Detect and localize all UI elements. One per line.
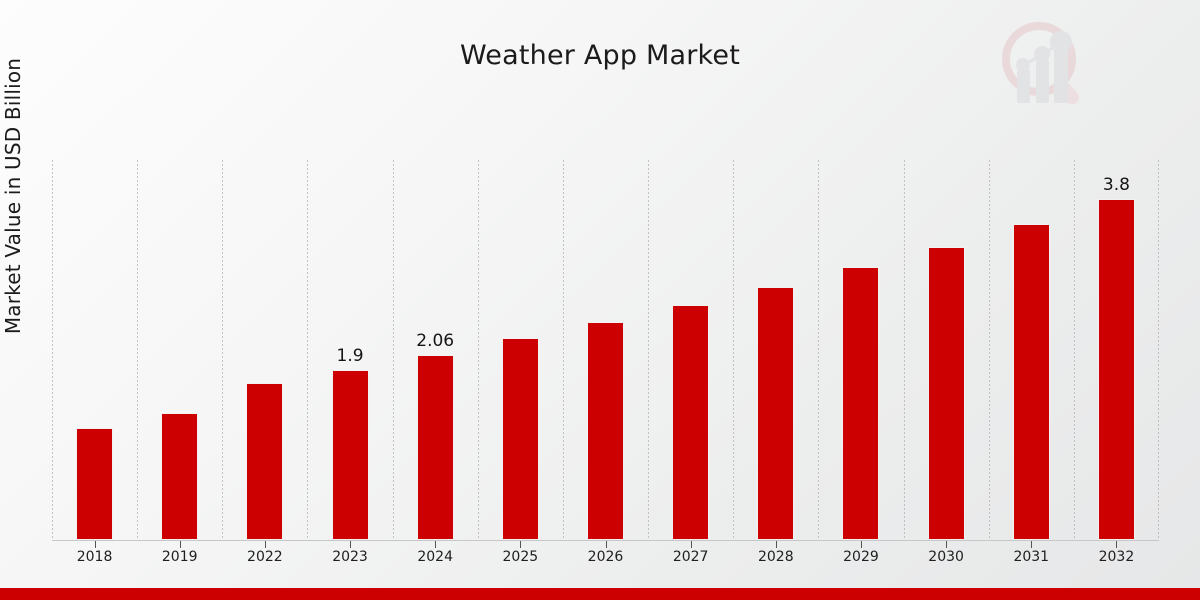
bar-rect[interactable] — [757, 287, 794, 540]
bar-value-label: 3.8 — [1103, 175, 1130, 195]
bar-rect[interactable] — [672, 305, 709, 540]
bar-rect[interactable] — [161, 413, 198, 540]
bar-value-label: 1.9 — [337, 346, 364, 366]
x-axis-label-2018: 2018 — [55, 549, 135, 565]
bar-2027[interactable] — [672, 305, 709, 540]
tick-mark — [946, 541, 947, 548]
tick-mark — [776, 541, 777, 548]
bar-rect[interactable] — [76, 428, 113, 540]
bar-2025[interactable] — [502, 338, 539, 540]
tick-mark — [1116, 541, 1117, 548]
bar-2018[interactable] — [76, 428, 113, 540]
x-axis-label-2023: 2023 — [310, 549, 390, 565]
bar-rect[interactable] — [417, 355, 454, 540]
bar-2023[interactable]: 1.9 — [332, 370, 369, 540]
bar-2022[interactable] — [246, 383, 283, 540]
x-axis-label-2030: 2030 — [906, 549, 986, 565]
x-axis-label-2025: 2025 — [480, 549, 560, 565]
x-axis-label-2019: 2019 — [140, 549, 220, 565]
x-axis-label-2031: 2031 — [991, 549, 1071, 565]
tick-mark — [180, 541, 181, 548]
x-axis-label-2032: 2032 — [1076, 549, 1156, 565]
bar-rect[interactable] — [246, 383, 283, 540]
tick-mark — [861, 541, 862, 548]
y-axis-label: Market Value in USD Billion — [1, 0, 37, 411]
tick-mark — [350, 541, 351, 548]
bar-rect[interactable] — [928, 247, 965, 540]
tick-mark — [691, 541, 692, 548]
tick-mark — [95, 541, 96, 548]
logo-watermark — [995, 18, 1095, 110]
bar-2032[interactable]: 3.8 — [1098, 199, 1135, 540]
bar-rect[interactable] — [587, 322, 624, 540]
bar-value-label: 2.06 — [416, 331, 454, 351]
tick-mark — [435, 541, 436, 548]
bar-2031[interactable] — [1013, 224, 1050, 540]
x-axis-label-2027: 2027 — [651, 549, 731, 565]
tick-mark — [606, 541, 607, 548]
tick-mark — [1031, 541, 1032, 548]
bar-rect[interactable] — [332, 370, 369, 540]
bar-2019[interactable] — [161, 413, 198, 540]
x-axis-label-2022: 2022 — [225, 549, 305, 565]
x-axis-label-2029: 2029 — [821, 549, 901, 565]
chart-figure: Weather App Market Market Value in USD B… — [0, 0, 1200, 600]
footer-accent-bar — [0, 588, 1200, 600]
bar-rect[interactable] — [842, 267, 879, 540]
bar-rect[interactable] — [1098, 199, 1135, 540]
plot-area: 1.92.063.8 — [52, 160, 1159, 541]
bar-rect[interactable] — [1013, 224, 1050, 540]
bar-2028[interactable] — [757, 287, 794, 540]
bar-2029[interactable] — [842, 267, 879, 540]
tick-mark — [520, 541, 521, 548]
x-axis-label-2026: 2026 — [566, 549, 646, 565]
x-axis-label-2024: 2024 — [395, 549, 475, 565]
bar-2030[interactable] — [928, 247, 965, 540]
bar-rect[interactable] — [502, 338, 539, 540]
bar-2024[interactable]: 2.06 — [417, 355, 454, 540]
tick-mark — [265, 541, 266, 548]
magnifier-chart-logo-icon — [995, 18, 1095, 110]
x-axis-label-2028: 2028 — [736, 549, 816, 565]
bar-series: 1.92.063.8 — [52, 160, 1159, 541]
bar-2026[interactable] — [587, 322, 624, 540]
